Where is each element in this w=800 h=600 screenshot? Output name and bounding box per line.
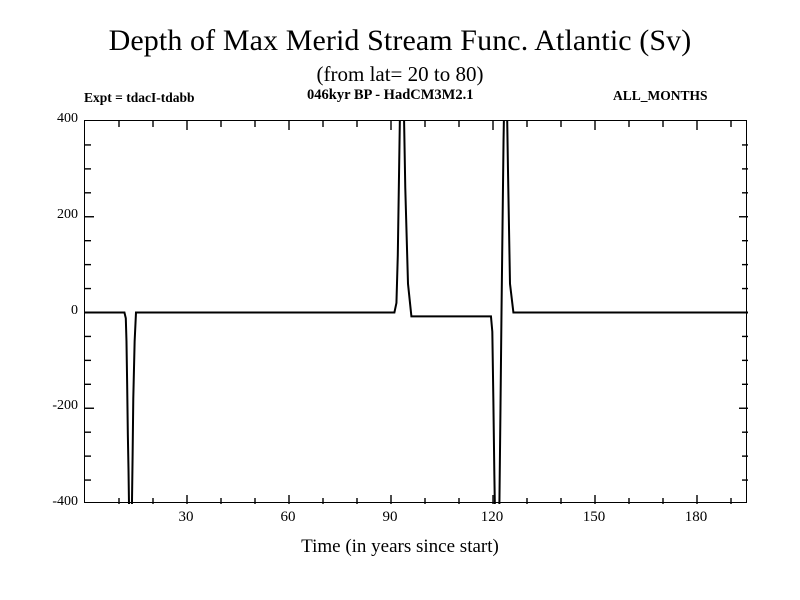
x-tick-label: 150 (583, 509, 606, 526)
x-axis-title: Time (in years since start) (0, 536, 800, 558)
x-tick-label: 180 (685, 509, 708, 526)
x-tick-label: 120 (481, 509, 504, 526)
x-tick-label: 90 (383, 509, 398, 526)
x-axis-tick-labels: 306090120150180 (0, 0, 800, 600)
x-tick-label: 60 (281, 509, 296, 526)
x-tick-label: 30 (179, 509, 194, 526)
chart-page: Depth of Max Merid Stream Func. Atlantic… (0, 0, 800, 600)
